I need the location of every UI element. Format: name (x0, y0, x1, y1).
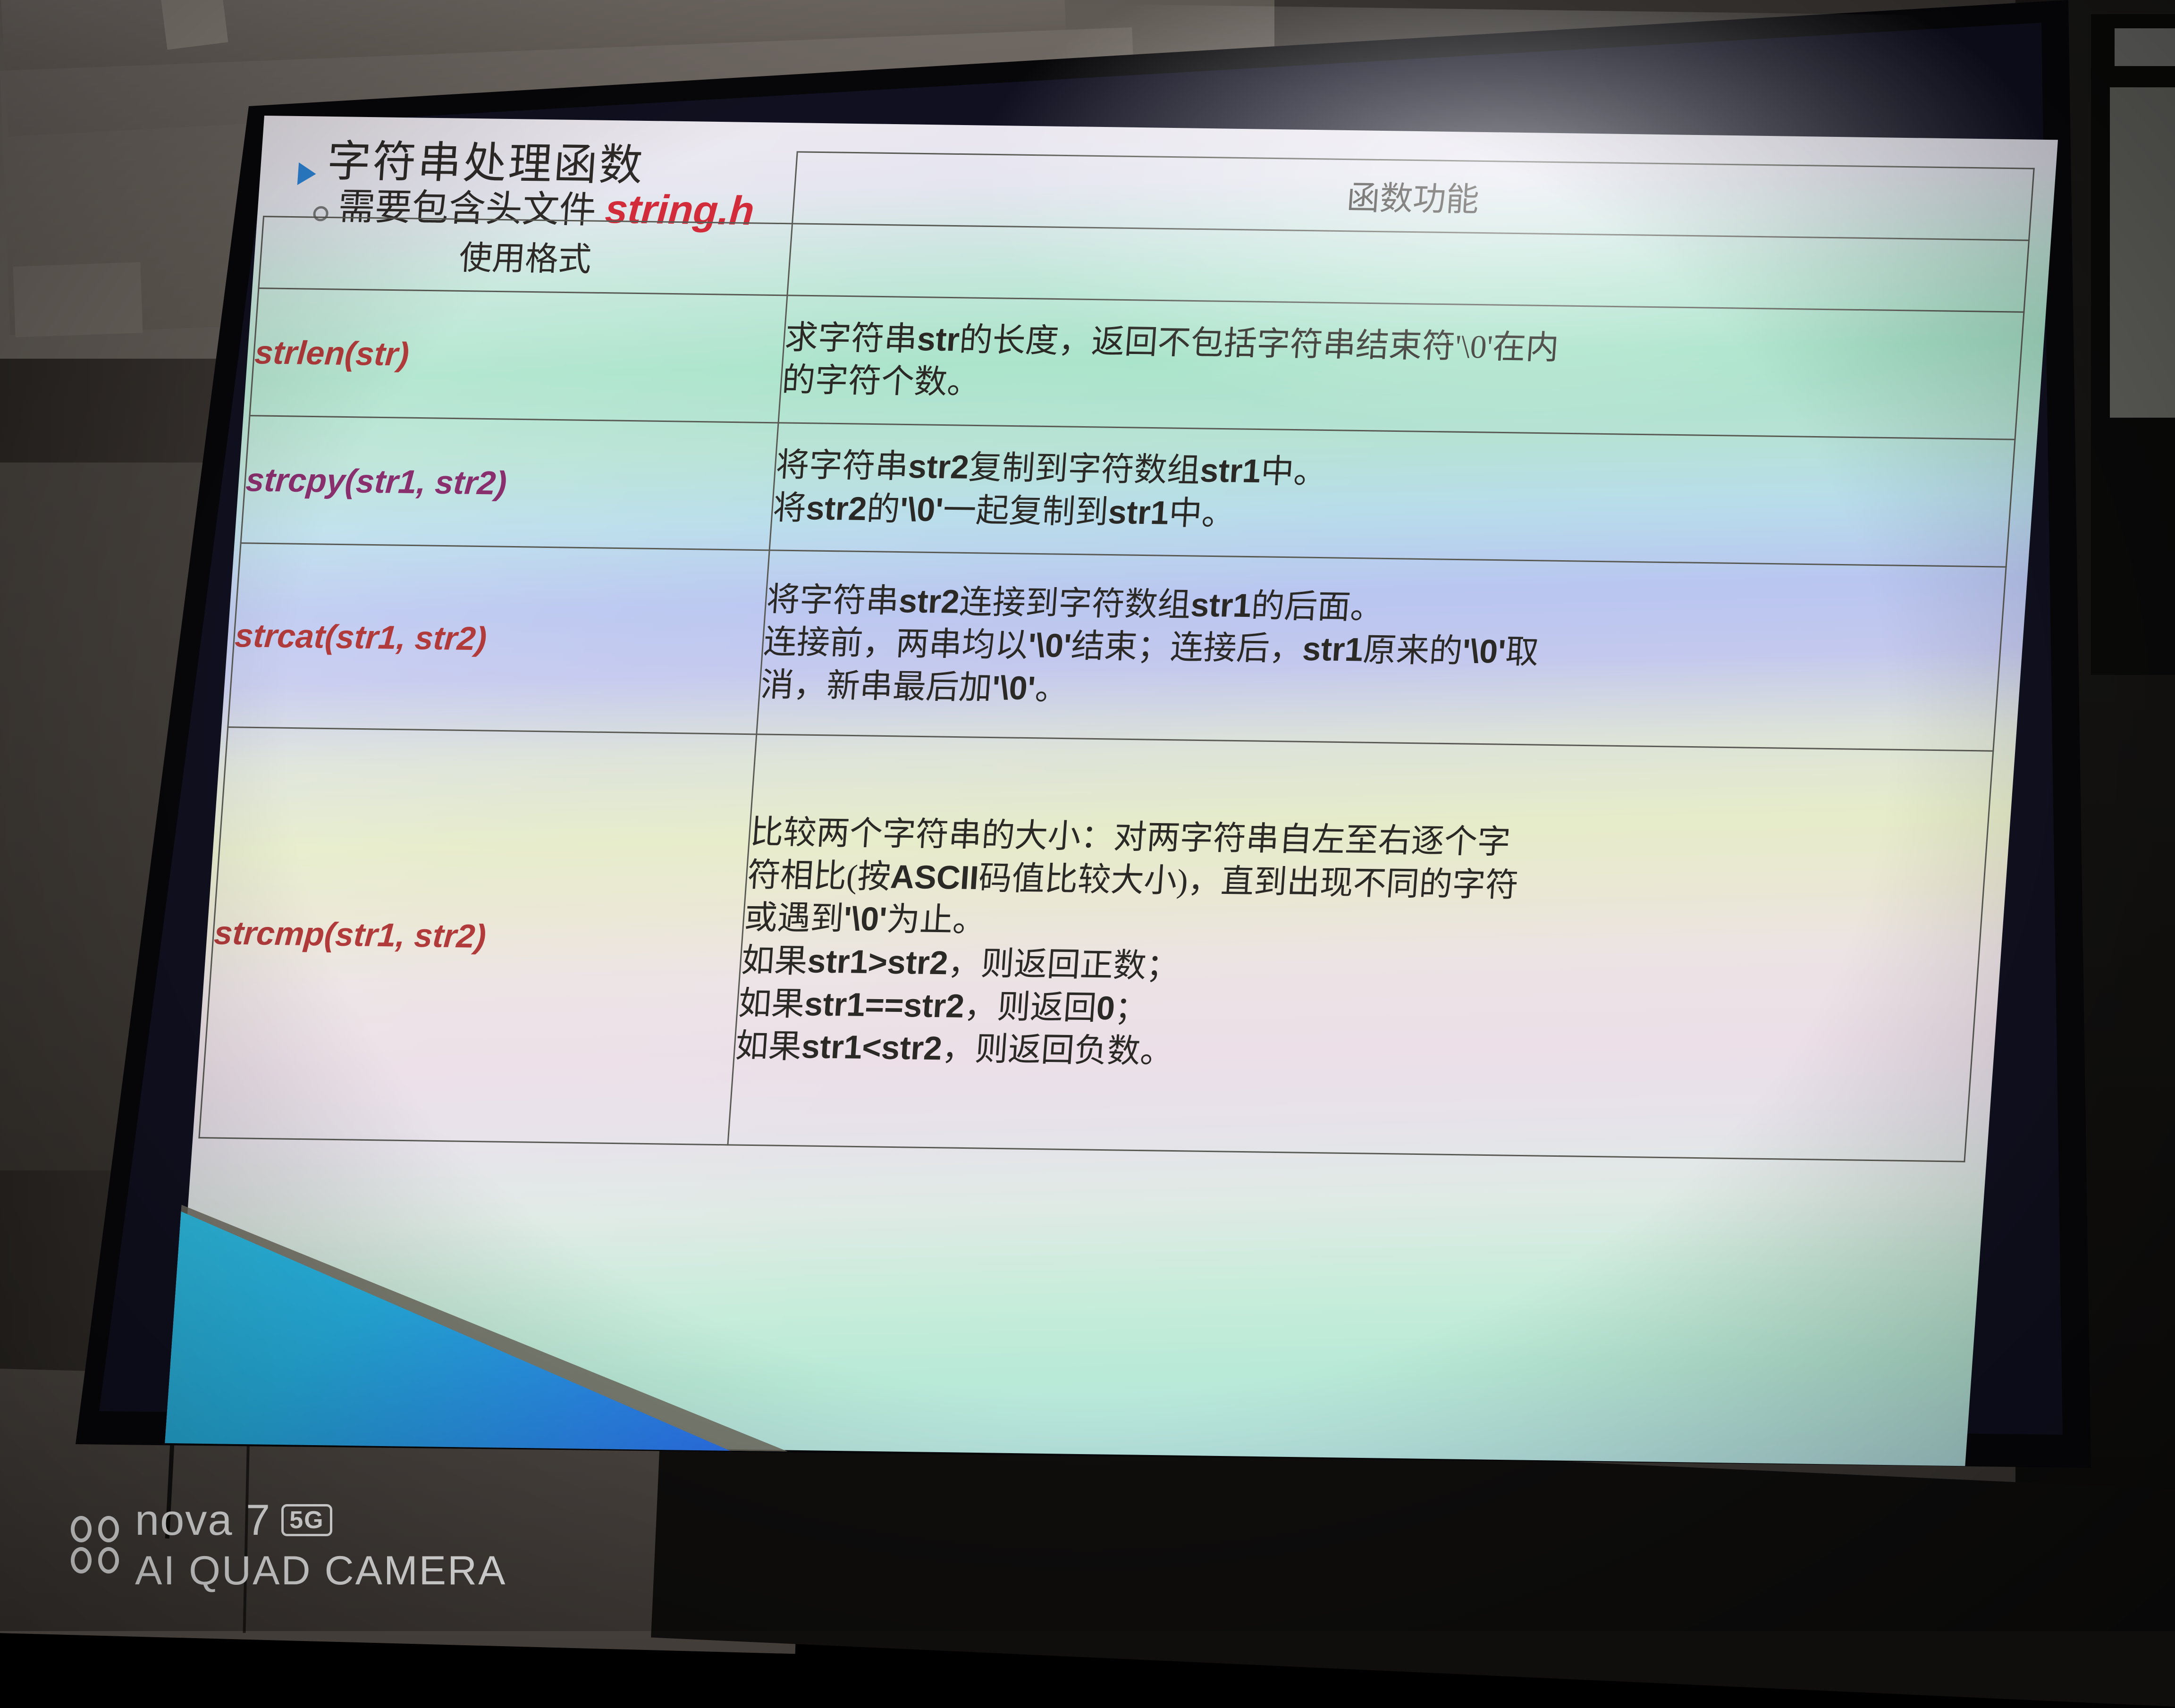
function-format-strcmp: strcmp(str1, str2) (199, 727, 757, 1145)
presentation-slide: 字符串处理函数 需要包含头文件 string.h 函数功能 使用格式 strle… (172, 116, 2058, 1456)
table-row: strcpy(str1, str2) 将字符串str2复制到字符数组str1中。… (241, 416, 2015, 567)
function-format-strlen: strlen(str) (250, 288, 787, 423)
header-spacer-cell (264, 145, 798, 224)
watermark-tagline: AI QUAD CAMERA (135, 1550, 506, 1591)
table-row: strcmp(str1, str2) 比较两个字符串的大小：对两字符串自左至右逐… (199, 727, 1993, 1161)
function-desc-strlen: 求字符串str的长度，返回不包括字符串结束符'\0'在内的字符个数。 (778, 295, 2024, 439)
slide-corner-decoration (165, 1205, 804, 1452)
column-header-format: 使用格式 (259, 217, 792, 295)
function-desc-strcpy: 将字符串str2复制到字符数组str1中。将str2的'\0'一起复制到str1… (769, 423, 2015, 567)
wall-ledge (13, 262, 143, 337)
board-upper-panel (2115, 28, 2175, 66)
table-row: strcat(str1, str2) 将字符串str2连接到字符数组str1的后… (228, 543, 2006, 751)
function-desc-strcmp: 比较两个字符串的大小：对两字符串自左至右逐个字符相比(按ASCII码值比较大小)… (728, 734, 1993, 1161)
board-lower-panel (2110, 87, 2175, 418)
watermark-device-name: nova 7 5G (135, 1498, 506, 1542)
quad-camera-dots-icon (71, 1516, 119, 1573)
slide-canvas: 字符串处理函数 需要包含头文件 string.h 函数功能 使用格式 strle… (171, 116, 2058, 1466)
table-row: strlen(str) 求字符串str的长度，返回不包括字符串结束符'\0'在内… (250, 288, 2024, 439)
function-desc-strcat: 将字符串str2连接到字符数组str1的后面。连接前，两串均以'\0'结束；连接… (757, 550, 2006, 751)
function-format-strcpy: strcpy(str1, str2) (241, 416, 778, 550)
function-format-strcat: strcat(str1, str2) (228, 543, 769, 734)
camera-watermark: nova 7 5G AI QUAD CAMERA (71, 1498, 506, 1591)
beam-notch (157, 0, 228, 50)
watermark-model: nova 7 (135, 1498, 271, 1542)
watermark-5g-badge: 5G (281, 1504, 332, 1537)
string-functions-table: 函数功能 使用格式 strlen(str) 求字符串str的长度，返回不包括字符… (198, 144, 2034, 1162)
watermark-line-1: nova 7 5G AI QUAD CAMERA (71, 1498, 506, 1591)
